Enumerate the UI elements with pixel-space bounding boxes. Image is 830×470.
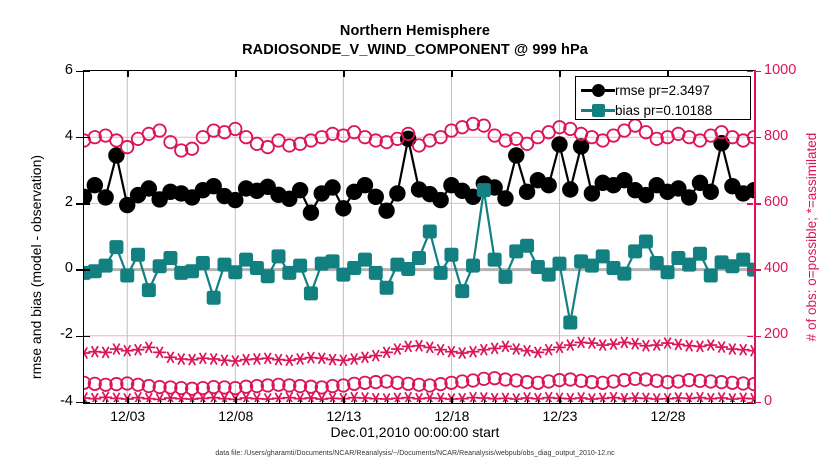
- x-tick-label: 12/08: [201, 408, 271, 424]
- x-tick-minor: [84, 400, 85, 403]
- x-tick-minor: [149, 400, 150, 403]
- x-tick-minor: [408, 400, 409, 403]
- x-tick-minor: [505, 400, 506, 403]
- y-tick-right: [754, 402, 761, 404]
- x-tick-minor: [668, 400, 669, 403]
- y-tick-left: [76, 137, 83, 139]
- x-tick-label: 12/23: [525, 408, 595, 424]
- x-tick-minor: [138, 400, 139, 403]
- x-tick-minor: [722, 400, 723, 403]
- x-tick-minor: [484, 400, 485, 403]
- x-tick-label: 12/18: [417, 408, 487, 424]
- x-tick-minor: [289, 400, 290, 403]
- x-tick-minor: [376, 400, 377, 403]
- x-tick-minor: [365, 400, 366, 403]
- y-tick-right-inner: [747, 336, 753, 338]
- x-tick-minor: [678, 400, 679, 403]
- plot-area: [83, 70, 756, 404]
- x-tick-minor: [311, 400, 312, 403]
- x-tick-minor: [192, 400, 193, 403]
- y-tick-left-inner: [84, 203, 90, 205]
- x-tick-minor: [397, 400, 398, 403]
- x-tick-minor: [279, 400, 280, 403]
- x-tick-minor: [657, 400, 658, 403]
- chart-title: Northern Hemisphere RADIOSONDE_V_WIND_CO…: [0, 22, 830, 60]
- y-tick-left: [76, 203, 83, 205]
- x-tick-minor: [268, 400, 269, 403]
- x-tick-minor: [127, 400, 128, 403]
- y-tick-right-inner: [747, 71, 753, 73]
- x-tick-minor: [170, 400, 171, 403]
- y-axis-right-label-wrap: # of obs: o=possible; *=assimilated: [800, 70, 824, 404]
- x-tick-minor: [116, 400, 117, 403]
- data-series-svg: [84, 71, 754, 402]
- y-tick-right-inner: [747, 137, 753, 139]
- x-tick-minor: [538, 400, 539, 403]
- x-tick-minor: [246, 400, 247, 403]
- x-tick-minor: [516, 400, 517, 403]
- circle-filled-icon: [592, 84, 605, 97]
- legend-label-bias: bias pr=0.10188: [615, 103, 712, 118]
- x-tick-top: [451, 71, 453, 77]
- y-tick-right-inner: [747, 269, 753, 271]
- legend: rmse pr=2.3497 bias pr=0.10188: [575, 76, 751, 120]
- x-tick-minor: [181, 400, 182, 403]
- x-tick-minor: [743, 400, 744, 403]
- y-axis-right-label: # of obs: o=possible; *=assimilated: [800, 70, 824, 404]
- x-tick-minor: [300, 400, 301, 403]
- x-tick-minor: [214, 400, 215, 403]
- legend-symbol-bias: [581, 101, 615, 119]
- x-axis-label: Dec.01,2010 00:00:00 start: [0, 424, 830, 440]
- data-file-footer: data file: /Users/gharamti/Documents/NCA…: [0, 450, 830, 457]
- x-tick-minor: [106, 400, 107, 403]
- x-tick-minor: [441, 400, 442, 403]
- y-tick-left-inner: [84, 269, 90, 271]
- y-axis-left-label-wrap: rmse and bias (model - observation): [30, 72, 50, 402]
- x-tick-label: 12/03: [93, 408, 163, 424]
- y-tick-right: [754, 336, 761, 338]
- x-tick-minor: [570, 400, 571, 403]
- x-tick-minor: [754, 400, 755, 403]
- x-tick-minor: [203, 400, 204, 403]
- x-tick-minor: [549, 400, 550, 403]
- x-tick-top: [127, 71, 129, 77]
- y-tick-right: [754, 137, 761, 139]
- y-tick-left-inner: [84, 336, 90, 338]
- x-tick-label: 12/28: [633, 408, 703, 424]
- y-tick-left: [76, 402, 83, 404]
- x-tick-minor: [581, 400, 582, 403]
- x-tick-minor: [354, 400, 355, 403]
- plot-canvas: [84, 71, 755, 403]
- y-tick-left: [76, 269, 83, 271]
- legend-label-rmse: rmse pr=2.3497: [615, 83, 710, 98]
- x-tick-top: [235, 71, 237, 77]
- x-tick-minor: [473, 400, 474, 403]
- legend-symbol-rmse: [581, 81, 615, 99]
- y-tick-right: [754, 203, 761, 205]
- x-tick-minor: [451, 400, 452, 403]
- x-tick-minor: [711, 400, 712, 403]
- x-tick-minor: [419, 400, 420, 403]
- x-tick-minor: [700, 400, 701, 403]
- x-tick-top: [343, 71, 345, 77]
- y-tick-right-inner: [747, 203, 753, 205]
- title-line-2: RADIOSONDE_V_WIND_COMPONENT @ 999 hPa: [0, 41, 830, 60]
- x-tick-minor: [430, 400, 431, 403]
- y-tick-left: [76, 71, 83, 73]
- legend-item-rmse: rmse pr=2.3497: [581, 80, 745, 100]
- x-tick-minor: [333, 400, 334, 403]
- y-tick-right: [754, 269, 761, 271]
- y-tick-right: [754, 71, 761, 73]
- square-filled-icon: [592, 104, 605, 117]
- x-tick-minor: [343, 400, 344, 403]
- x-tick-minor: [462, 400, 463, 403]
- x-tick-label: 12/13: [309, 408, 379, 424]
- x-tick-minor: [614, 400, 615, 403]
- y-tick-left: [76, 336, 83, 338]
- legend-item-bias: bias pr=0.10188: [581, 100, 745, 120]
- y-tick-left-inner: [84, 71, 90, 73]
- x-tick-minor: [224, 400, 225, 403]
- x-tick-minor: [495, 400, 496, 403]
- x-tick-minor: [559, 400, 560, 403]
- title-line-1: Northern Hemisphere: [0, 22, 830, 41]
- x-tick-minor: [646, 400, 647, 403]
- x-tick-minor: [235, 400, 236, 403]
- x-tick-minor: [635, 400, 636, 403]
- x-tick-minor: [160, 400, 161, 403]
- x-tick-top: [559, 71, 561, 77]
- x-tick-minor: [689, 400, 690, 403]
- x-tick-minor: [732, 400, 733, 403]
- right-axis-spine: [754, 70, 756, 404]
- x-tick-minor: [624, 400, 625, 403]
- x-tick-minor: [95, 400, 96, 403]
- y-tick-left-inner: [84, 137, 90, 139]
- y-tick-right-inner: [747, 402, 753, 404]
- x-tick-minor: [527, 400, 528, 403]
- x-tick-minor: [387, 400, 388, 403]
- y-axis-left-label: rmse and bias (model - observation): [28, 82, 44, 452]
- x-tick-minor: [322, 400, 323, 403]
- x-tick-minor: [257, 400, 258, 403]
- x-tick-minor: [592, 400, 593, 403]
- x-tick-minor: [603, 400, 604, 403]
